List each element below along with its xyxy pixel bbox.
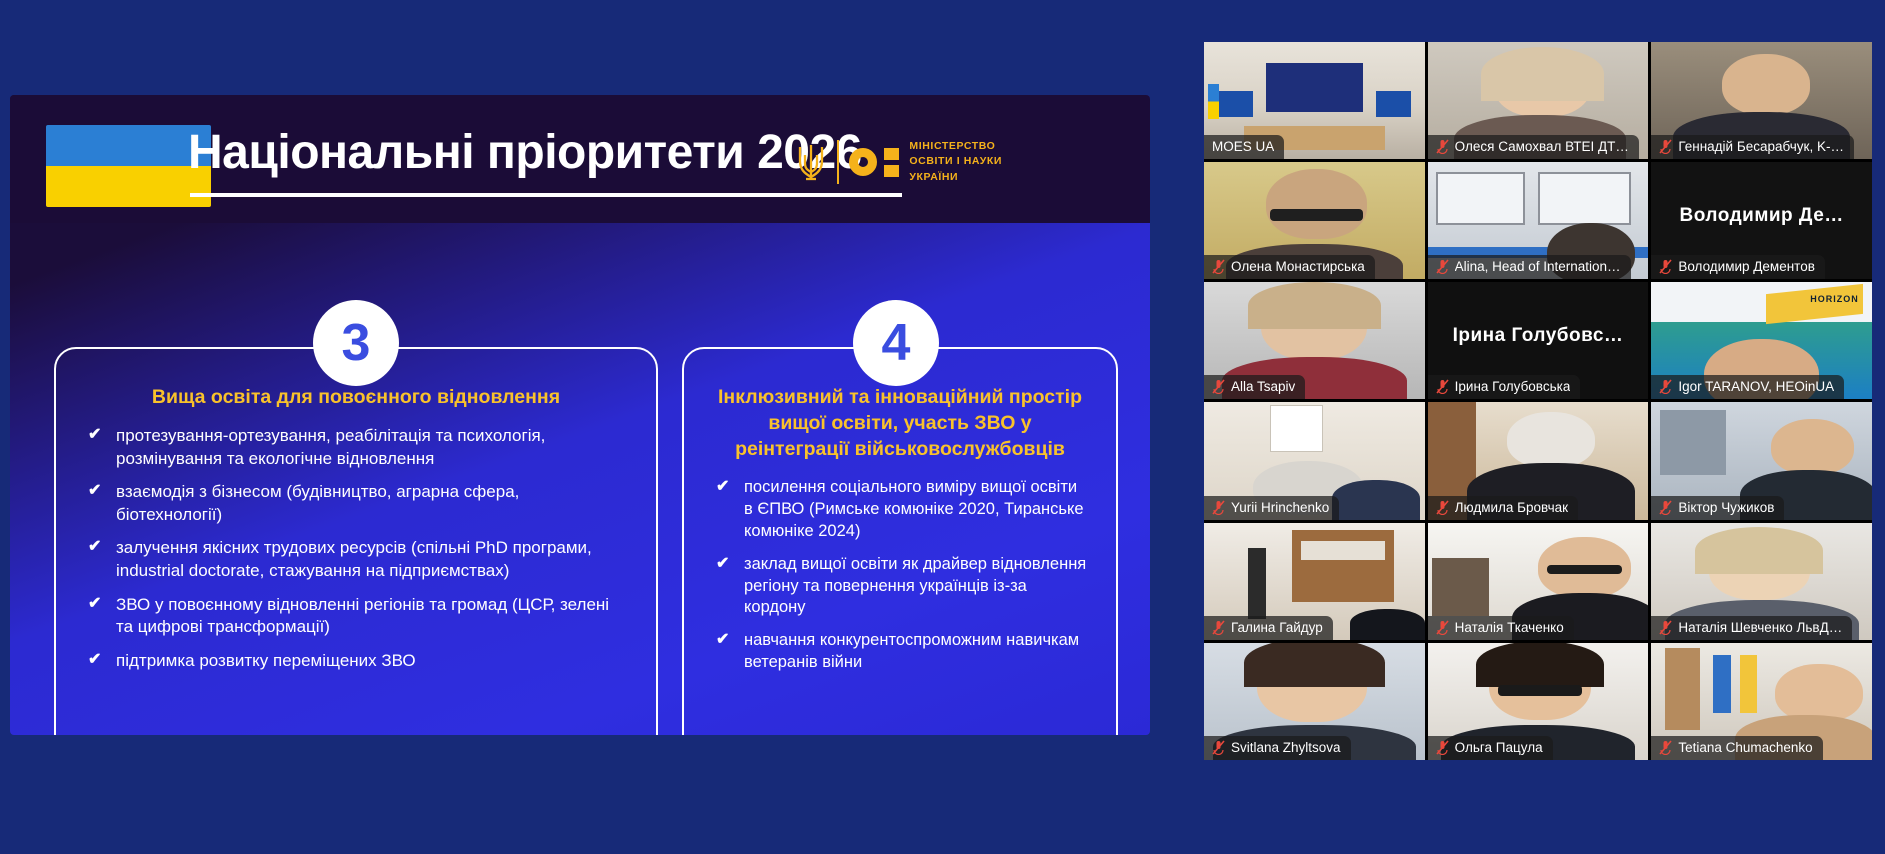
list-item: ✔ ЗВО у повоєнному відновленні регіонів …: [82, 594, 630, 639]
participant-tile[interactable]: Наталія Шевченко ЛьвД…: [1651, 523, 1872, 640]
list-item: ✔ заклад вищої освіти як драйвер відновл…: [710, 554, 1090, 620]
participant-name: Наталія Шевченко ЛьвД…: [1678, 620, 1842, 635]
participant-label: Tetiana Chumachenko: [1651, 736, 1822, 760]
list-item: ✔ посилення соціального виміру вищої осв…: [710, 477, 1090, 543]
ministry-name: МІНІСТЕРСТВО ОСВІТИ І НАУКИ УКРАЇНИ: [909, 139, 1002, 185]
priority-badge-3: 3: [313, 300, 399, 386]
list-item-text: взаємодія з бізнесом (будівництво, аграр…: [116, 482, 519, 524]
participant-tile[interactable]: MOES UA: [1204, 42, 1425, 159]
list-item-text: заклад вищої освіти як драйвер відновлен…: [744, 555, 1086, 617]
mute-icon: [1436, 259, 1449, 274]
mute-icon: [1212, 500, 1225, 515]
ministry-line-3: УКРАЇНИ: [909, 170, 1002, 185]
participant-label: Ірина Голубовська: [1428, 375, 1581, 399]
logo-circle: [849, 148, 877, 176]
priority-card-4: Інклюзивний та інноваційний простір вищо…: [682, 347, 1118, 735]
mute-icon: [1436, 379, 1449, 394]
presentation-slide: Національні пріоритети 2026: [10, 95, 1150, 735]
list-item-text: навчання конкурентоспроможним навичкам в…: [744, 631, 1079, 671]
participant-name: MOES UA: [1212, 139, 1274, 154]
participant-label: Yurii Hrinchenko: [1204, 496, 1339, 520]
participant-grid: MOES UA Олеся Самохвал ВТЕІ ДТ… Геннадій…: [1204, 42, 1872, 760]
mute-icon: [1659, 500, 1672, 515]
participant-name: Yurii Hrinchenko: [1231, 500, 1329, 515]
participant-name: Віктор Чужиков: [1678, 500, 1774, 515]
participant-name: Svitlana Zhyltsova: [1231, 740, 1341, 755]
check-icon: ✔: [88, 536, 101, 557]
ministry-logo: МІНІСТЕРСТВО ОСВІТИ І НАУКИ УКРАЇНИ: [795, 131, 1002, 193]
participant-label: MOES UA: [1204, 135, 1284, 159]
list-item: ✔ залучення якісних трудових ресурсів (с…: [82, 537, 630, 582]
check-icon: ✔: [88, 424, 101, 445]
participant-tile[interactable]: Олена Монастирська: [1204, 162, 1425, 279]
screen-share-area: Національні пріоритети 2026: [0, 0, 1160, 854]
participant-name: Igor TARANOV, HEOinUA: [1678, 379, 1834, 394]
participant-name: Володимир Дементов: [1678, 259, 1815, 274]
participant-tile[interactable]: Ірина Голубовс… Ірина Голубовська: [1428, 282, 1649, 399]
participant-tile[interactable]: Олеся Самохвал ВТЕІ ДТ…: [1428, 42, 1649, 159]
list-item-text: залучення якісних трудових ресурсів (спі…: [116, 538, 592, 580]
priority-card-4-title: Інклюзивний та інноваційний простір вищо…: [710, 385, 1090, 463]
participant-name: Наталія Ткаченко: [1455, 620, 1564, 635]
mute-icon: [1436, 139, 1449, 154]
participant-name: Галина Гайдур: [1231, 620, 1323, 635]
list-item: ✔ протезування-ортезування, реабілітація…: [82, 425, 630, 470]
participant-name: Ірина Голубовська: [1455, 379, 1571, 394]
mute-icon: [1659, 259, 1672, 274]
logo-bars: [884, 148, 899, 177]
mute-icon: [1212, 620, 1225, 635]
mute-icon: [1659, 620, 1672, 635]
check-icon: ✔: [88, 649, 101, 670]
list-item: ✔ підтримка розвитку переміщених ЗВО: [82, 650, 630, 673]
list-item: ✔ взаємодія з бізнесом (будівництво, агр…: [82, 481, 630, 526]
list-item: ✔ навчання конкурентоспроможним навичкам…: [710, 630, 1090, 674]
mute-icon: [1212, 259, 1225, 274]
check-icon: ✔: [88, 480, 101, 501]
mute-icon: [1436, 620, 1449, 635]
participant-name: Олеся Самохвал ВТЕІ ДТ…: [1455, 139, 1629, 154]
participant-name: Alla Tsapiv: [1231, 379, 1295, 394]
participant-label: Alina, Head of Internation…: [1428, 255, 1631, 279]
participant-label: Alla Tsapiv: [1204, 375, 1305, 399]
participant-label: Svitlana Zhyltsova: [1204, 736, 1351, 760]
participant-name: Геннадій Бесарабчук, K-…: [1678, 139, 1844, 154]
participant-tile[interactable]: Alla Tsapiv: [1204, 282, 1425, 399]
participant-tile[interactable]: Svitlana Zhyltsova: [1204, 643, 1425, 760]
participant-label: Володимир Дементов: [1651, 255, 1825, 279]
logo-divider: [837, 140, 839, 184]
mute-icon: [1436, 740, 1449, 755]
participant-label: Наталія Ткаченко: [1428, 616, 1574, 640]
check-icon: ✔: [88, 593, 101, 614]
participant-name: Ольга Пацула: [1455, 740, 1543, 755]
check-icon: ✔: [716, 629, 729, 650]
priority-card-3-title: Вища освіта для повоєнного відновлення: [82, 385, 630, 411]
participant-tile[interactable]: Людмила Бровчак: [1428, 402, 1649, 519]
mute-icon: [1659, 740, 1672, 755]
participant-label: Людмила Бровчак: [1428, 496, 1578, 520]
participant-center-name: Ірина Голубовс…: [1428, 325, 1649, 347]
title-underline: [190, 193, 902, 197]
participant-label: Олена Монастирська: [1204, 255, 1375, 279]
participant-label: Віктор Чужиков: [1651, 496, 1784, 520]
priority-card-3: Вища освіта для повоєнного відновлення ✔…: [54, 347, 658, 735]
ministry-line-2: ОСВІТИ І НАУКИ: [909, 154, 1002, 169]
participant-name: Alina, Head of Internation…: [1455, 259, 1621, 274]
list-item-text: підтримка розвитку переміщених ЗВО: [116, 651, 416, 670]
participant-name: Tetiana Chumachenko: [1678, 740, 1812, 755]
participant-tile[interactable]: Наталія Ткаченко: [1428, 523, 1649, 640]
participant-tile[interactable]: Галина Гайдур: [1204, 523, 1425, 640]
participant-tile[interactable]: Alina, Head of Internation…: [1428, 162, 1649, 279]
participant-name: Людмила Бровчак: [1455, 500, 1568, 515]
participant-name: Олена Монастирська: [1231, 259, 1365, 274]
participant-tile[interactable]: Володимир Де… Володимир Дементов: [1651, 162, 1872, 279]
list-item-text: посилення соціального виміру вищої освіт…: [744, 478, 1084, 540]
participant-label: Наталія Шевченко ЛьвД…: [1651, 616, 1852, 640]
priority-card-4-list: ✔ посилення соціального виміру вищої осв…: [710, 477, 1090, 675]
participant-label: Галина Гайдур: [1204, 616, 1333, 640]
participant-center-name: Володимир Де…: [1651, 205, 1872, 227]
mute-icon: [1212, 379, 1225, 394]
participant-tile[interactable]: Геннадій Бесарабчук, K-…: [1651, 42, 1872, 159]
trident-icon: [795, 139, 827, 185]
list-item-text: ЗВО у повоєнному відновленні регіонів та…: [116, 595, 609, 637]
participant-tile[interactable]: Tetiana Chumachenko: [1651, 643, 1872, 760]
slide-title: Національні пріоритети 2026: [188, 125, 862, 180]
check-icon: ✔: [716, 553, 729, 574]
ukraine-flag-icon: [46, 125, 211, 207]
check-icon: ✔: [716, 476, 729, 497]
participant-label: Геннадій Бесарабчук, K-…: [1651, 135, 1854, 159]
participant-tile[interactable]: Віктор Чужиков: [1651, 402, 1872, 519]
participant-tile[interactable]: Yurii Hrinchenko: [1204, 402, 1425, 519]
participant-label: Igor TARANOV, HEOinUA: [1651, 375, 1844, 399]
participant-tile[interactable]: Ольга Пацула: [1428, 643, 1649, 760]
ministry-line-1: МІНІСТЕРСТВО: [909, 139, 1002, 154]
mute-icon: [1659, 139, 1672, 154]
mute-icon: [1436, 500, 1449, 515]
mon-logomark: [849, 148, 899, 177]
slide-header: Національні пріоритети 2026: [10, 95, 1150, 223]
priority-badge-4: 4: [853, 300, 939, 386]
mute-icon: [1212, 740, 1225, 755]
participant-tile[interactable]: HORIZON Igor TARANOV, HEOinUA: [1651, 282, 1872, 399]
priority-card-3-list: ✔ протезування-ортезування, реабілітація…: [82, 425, 630, 672]
mute-icon: [1659, 379, 1672, 394]
participant-label: Олеся Самохвал ВТЕІ ДТ…: [1428, 135, 1639, 159]
list-item-text: протезування-ортезування, реабілітація т…: [116, 426, 545, 468]
participant-label: Ольга Пацула: [1428, 736, 1553, 760]
